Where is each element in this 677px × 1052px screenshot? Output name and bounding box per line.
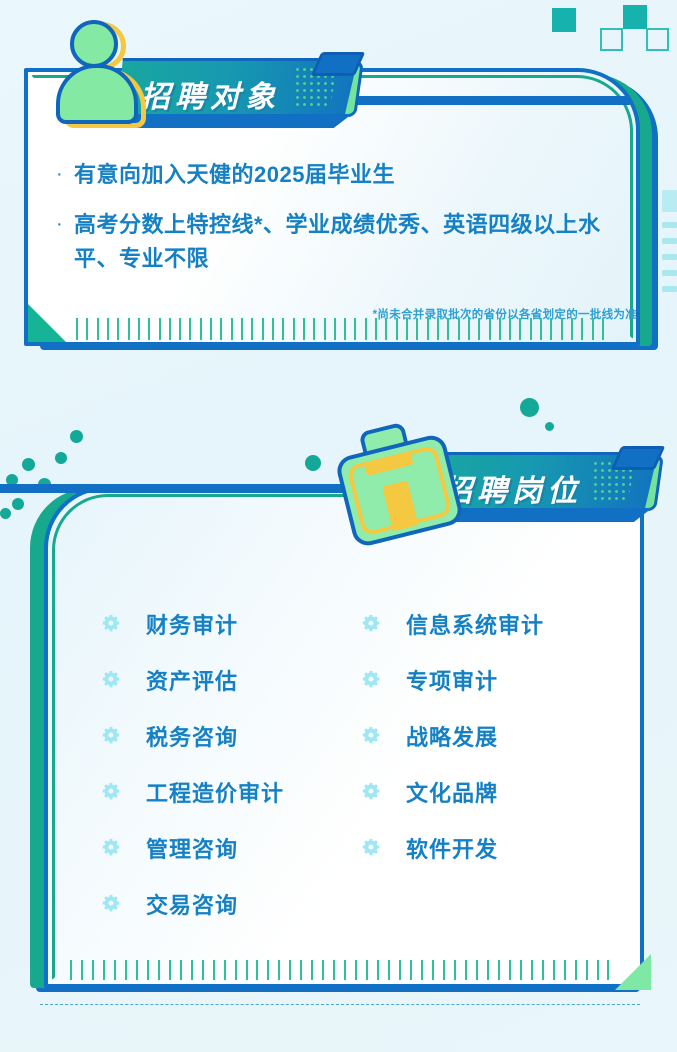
bullet-item: · 有意向加入天健的2025届毕业生 <box>56 158 616 192</box>
tick-mark <box>520 960 522 980</box>
recruitment-poster: 招聘对象 · 有意向加入天健的2025届毕业生 · 高考分数上特控线*、学业成绩… <box>0 0 677 1052</box>
tick-mark <box>293 318 295 340</box>
tick-mark <box>458 318 460 340</box>
job-label: 税务咨询 <box>146 720 238 752</box>
tick-mark <box>427 318 429 340</box>
tick-mark <box>169 960 171 980</box>
decor-dash-2 <box>662 222 677 228</box>
tick-mark <box>202 960 204 980</box>
tick-mark <box>180 960 182 980</box>
job-label: 资产评估 <box>146 664 238 696</box>
tick-mark <box>300 960 302 980</box>
tick-mark <box>86 318 88 340</box>
tick-mark <box>531 960 533 980</box>
tick-mark <box>267 960 269 980</box>
tick-mark <box>465 960 467 980</box>
tick-mark <box>213 960 215 980</box>
tick-mark <box>138 318 140 340</box>
tick-mark <box>447 318 449 340</box>
tick-mark <box>220 318 222 340</box>
job-label: 财务审计 <box>146 608 238 640</box>
tick-mark <box>128 318 130 340</box>
tick-mark <box>147 960 149 980</box>
decor-dash-5 <box>662 270 677 276</box>
tick-mark <box>158 960 160 980</box>
tick-mark <box>542 960 544 980</box>
tick-mark <box>70 960 72 980</box>
gear-icon <box>100 893 122 915</box>
tick-mark <box>540 318 542 340</box>
tick-mark <box>246 960 248 980</box>
tick-mark <box>289 960 291 980</box>
decor-dot-1 <box>70 430 83 443</box>
tick-mark <box>550 318 552 340</box>
gear-icon <box>100 725 122 747</box>
gear-icon <box>100 837 122 859</box>
job-label: 战略发展 <box>406 720 498 752</box>
job-item[interactable]: 软件开发 <box>360 820 620 876</box>
tick-mark <box>136 960 138 980</box>
bullet-text: 有意向加入天健的2025届毕业生 <box>74 158 395 192</box>
job-item[interactable]: 管理咨询 <box>100 820 360 876</box>
tick-mark <box>432 960 434 980</box>
tick-mark <box>97 318 99 340</box>
tick-mark <box>607 960 609 980</box>
tick-mark <box>344 318 346 340</box>
job-item[interactable]: 资产评估 <box>100 652 360 708</box>
banner-stripe-blue <box>330 96 630 105</box>
bullet-text: 高考分数上特控线*、学业成绩优秀、英语四级以上水平、专业不限 <box>74 208 616 276</box>
decor-square-solid-1 <box>552 8 576 32</box>
avatar-head <box>70 20 118 68</box>
decor-square-hollow-2 <box>646 28 669 51</box>
tick-mark <box>561 318 563 340</box>
gear-icon <box>360 669 382 691</box>
job-item[interactable]: 交易咨询 <box>100 876 360 932</box>
tick-mark <box>509 960 511 980</box>
gear-icon <box>100 669 122 691</box>
tick-mark <box>365 318 367 340</box>
tick-mark <box>344 960 346 980</box>
tick-mark <box>509 318 511 340</box>
tick-mark <box>322 960 324 980</box>
tick-mark <box>421 960 423 980</box>
card-target-corner-fold <box>28 304 66 342</box>
tick-mark <box>468 318 470 340</box>
decor-dash-1 <box>662 190 677 212</box>
bottom-dashed-divider <box>40 1004 640 1005</box>
card-target-tick-bar <box>76 316 604 340</box>
banner-title-target: 招聘对象 <box>140 72 280 116</box>
tick-mark <box>498 960 500 980</box>
tick-mark <box>191 960 193 980</box>
job-item[interactable]: 战略发展 <box>360 708 620 764</box>
tick-mark <box>81 960 83 980</box>
tick-mark <box>597 960 599 980</box>
job-label: 信息系统审计 <box>406 608 544 640</box>
decor-dot-3 <box>22 458 35 471</box>
job-positions-grid: 财务审计 资产评估 税务咨询 工程造价审计 管理咨询 交易咨询 <box>100 596 620 932</box>
card-positions-tick-bar <box>70 958 610 980</box>
decor-dot-10 <box>545 422 554 431</box>
job-label: 工程造价审计 <box>146 776 284 808</box>
tick-mark <box>334 318 336 340</box>
tick-mark <box>256 960 258 980</box>
job-item[interactable]: 文化品牌 <box>360 764 620 820</box>
tick-mark <box>377 960 379 980</box>
tick-mark <box>564 960 566 980</box>
tick-mark <box>272 318 274 340</box>
decor-dot-9 <box>520 398 539 417</box>
tick-mark <box>443 960 445 980</box>
gear-icon <box>360 781 382 803</box>
job-column-right: 信息系统审计 专项审计 战略发展 文化品牌 软件开发 <box>360 596 620 932</box>
tick-mark <box>396 318 398 340</box>
tick-mark <box>410 960 412 980</box>
tick-mark <box>324 318 326 340</box>
tick-mark <box>571 318 573 340</box>
tick-mark <box>107 318 109 340</box>
tick-mark <box>282 318 284 340</box>
tick-mark <box>355 960 357 980</box>
tick-mark <box>224 960 226 980</box>
tick-mark <box>375 318 377 340</box>
tick-mark <box>235 960 237 980</box>
job-label: 文化品牌 <box>406 776 498 808</box>
tick-mark <box>103 960 105 980</box>
tick-mark <box>333 960 335 980</box>
tick-mark <box>231 318 233 340</box>
tick-mark <box>92 960 94 980</box>
job-item[interactable]: 信息系统审计 <box>360 596 620 652</box>
gear-icon <box>100 781 122 803</box>
job-label: 专项审计 <box>406 664 498 696</box>
tick-mark <box>476 960 478 980</box>
job-item[interactable]: 税务咨询 <box>100 708 360 764</box>
tick-mark <box>179 318 181 340</box>
tick-mark <box>489 318 491 340</box>
tick-mark <box>278 960 280 980</box>
tick-mark <box>575 960 577 980</box>
person-avatar-icon <box>50 18 160 130</box>
decor-square-solid-2 <box>623 5 647 29</box>
job-item[interactable]: 工程造价审计 <box>100 764 360 820</box>
tick-mark <box>519 318 521 340</box>
gear-icon <box>360 613 382 635</box>
tick-mark <box>388 960 390 980</box>
tick-mark <box>241 318 243 340</box>
tick-mark <box>169 318 171 340</box>
decor-dot-6 <box>12 498 24 510</box>
tick-mark <box>385 318 387 340</box>
tick-mark <box>416 318 418 340</box>
tick-mark <box>487 960 489 980</box>
tick-mark <box>478 318 480 340</box>
job-label: 交易咨询 <box>146 888 238 920</box>
tick-mark <box>499 318 501 340</box>
tick-mark <box>602 318 604 340</box>
tick-mark <box>399 960 401 980</box>
tick-mark <box>586 960 588 980</box>
job-item[interactable]: 专项审计 <box>360 652 620 708</box>
tick-mark <box>454 960 456 980</box>
tick-mark <box>592 318 594 340</box>
tick-mark <box>313 318 315 340</box>
decor-dash-4 <box>662 254 677 260</box>
job-label: 软件开发 <box>406 832 498 864</box>
tick-mark <box>354 318 356 340</box>
tick-mark <box>148 318 150 340</box>
tick-mark <box>530 318 532 340</box>
job-column-left: 财务审计 资产评估 税务咨询 工程造价审计 管理咨询 交易咨询 <box>100 596 360 932</box>
tick-mark <box>581 318 583 340</box>
job-item[interactable]: 财务审计 <box>100 596 360 652</box>
tick-mark <box>125 960 127 980</box>
tick-mark <box>303 318 305 340</box>
tick-mark <box>159 318 161 340</box>
decor-dot-2 <box>55 452 67 464</box>
tick-mark <box>76 318 78 340</box>
banner2-stripe-blue <box>0 484 350 493</box>
tick-mark <box>200 318 202 340</box>
tick-mark <box>251 318 253 340</box>
job-label: 管理咨询 <box>146 832 238 864</box>
decor-square-hollow-1 <box>600 28 623 51</box>
gear-icon <box>100 613 122 635</box>
decor-dot-8 <box>305 455 321 471</box>
target-bullet-list: · 有意向加入天健的2025届毕业生 · 高考分数上特控线*、学业成绩优秀、英语… <box>56 158 616 292</box>
bullet-marker: · <box>56 158 74 190</box>
tick-mark <box>366 960 368 980</box>
tick-mark <box>114 960 116 980</box>
gear-icon <box>360 837 382 859</box>
tick-mark <box>189 318 191 340</box>
bullet-marker: · <box>56 208 74 240</box>
decor-dash-3 <box>662 238 677 244</box>
bullet-item: · 高考分数上特控线*、学业成绩优秀、英语四级以上水平、专业不限 <box>56 208 616 276</box>
gear-icon <box>360 725 382 747</box>
tick-mark <box>437 318 439 340</box>
tick-mark <box>311 960 313 980</box>
decor-dot-7 <box>0 508 11 519</box>
card-positions-corner-fold <box>615 954 651 990</box>
tick-mark <box>210 318 212 340</box>
decor-dash-6 <box>662 286 677 292</box>
tick-mark <box>262 318 264 340</box>
tick-mark <box>406 318 408 340</box>
tick-mark <box>117 318 119 340</box>
tick-mark <box>553 960 555 980</box>
